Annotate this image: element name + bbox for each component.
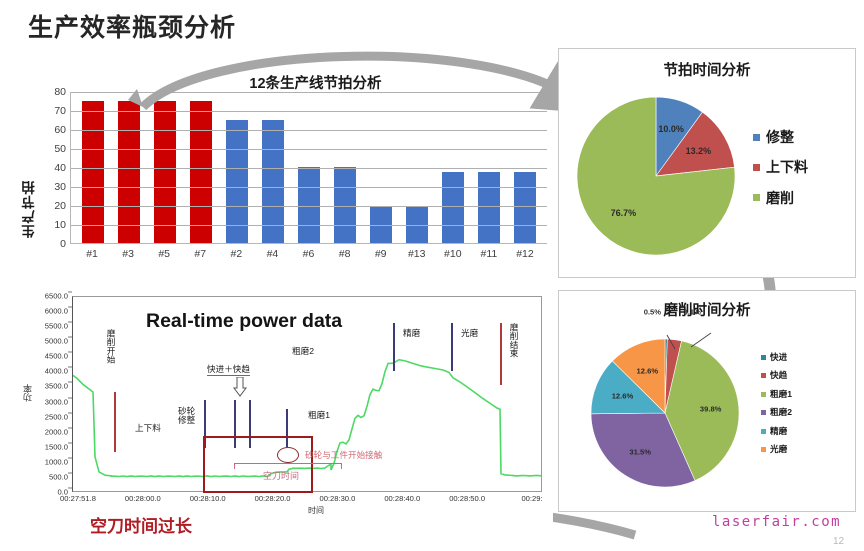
bar-chart-x-tick: #12	[507, 248, 543, 260]
legend-swatch	[761, 429, 766, 434]
pie-slice-value-label: 76.7%	[611, 208, 637, 218]
bar-chart-gridline	[71, 168, 547, 169]
pie-slice-value-label: 0.5%	[644, 307, 661, 316]
pie-legend-label: 快趋	[770, 369, 787, 381]
pie2-legend: 快进快趋粗磨1粗磨2精磨光磨	[761, 351, 792, 462]
pie-legend-item: 快进	[761, 351, 792, 363]
bar-chart-x-ticks: #1#3#5#7#2#4#6#8#9#13#10#11#12	[70, 248, 547, 260]
line-chart-x-tick: 00:28:20.0	[255, 494, 291, 503]
pie-legend-label: 光磨	[770, 443, 787, 455]
marker-grinding-start	[114, 392, 116, 452]
annotation-grinding-start: 磨削开始	[106, 329, 115, 389]
pie-legend-label: 修整	[766, 127, 794, 147]
annotation-wheel-dressing: 砂轮修整	[178, 407, 202, 426]
realtime-power-line-chart: 功率 6500.06000.05500.05000.04500.04000.03…	[18, 288, 553, 538]
line-chart-y-tick: 2000.0	[28, 427, 68, 436]
pie-slice-value-label: 3.1%	[684, 308, 701, 317]
pie-slice-value-label: 31.5%	[629, 447, 651, 456]
pie-legend-item: 磨削	[753, 188, 808, 208]
bar-chart-x-tick: #11	[471, 248, 507, 260]
annotation-spark-out: 光磨	[461, 327, 478, 339]
bar-chart-x-tick: #10	[435, 248, 471, 260]
pie-slice-value-label: 12.6%	[637, 366, 659, 375]
bar-chart-y-tick: 40	[38, 162, 66, 174]
marker-spark-out	[451, 323, 453, 371]
bar-chart-gridline	[71, 206, 547, 207]
bar-chart-y-axis-label: 生产节拍	[20, 180, 40, 238]
pie1-legend: 修整上下料磨削	[753, 127, 808, 218]
pie-legend-label: 精磨	[770, 425, 787, 437]
line-chart-title: Real-time power data	[146, 310, 342, 333]
pie2-chart: 0.5%3.1%39.8%31.5%12.6%12.6%	[591, 339, 739, 487]
pie-slice-value-label: 13.2%	[686, 146, 712, 156]
line-chart-y-tick: 5000.0	[28, 337, 68, 346]
pie1-title: 节拍时间分析	[559, 59, 855, 80]
bar	[514, 172, 536, 243]
bar-chart-y-tick: 70	[38, 105, 66, 117]
bar-chart-x-tick: #9	[363, 248, 399, 260]
bar-chart-gridline	[71, 187, 547, 188]
legend-swatch	[761, 355, 766, 360]
line-chart-x-tick: 00:27:51.8	[60, 494, 96, 503]
bar-chart-y-tick: 60	[38, 124, 66, 136]
bar-chart-y-tick: 20	[38, 200, 66, 212]
annotation-idle-too-long: 空刀时间过长	[90, 512, 192, 537]
bar-chart-x-tick: #2	[218, 248, 254, 260]
annotation-rough-grind-2: 粗磨2	[292, 345, 314, 357]
legend-swatch	[753, 134, 760, 141]
pie2-title: 磨削时间分析	[559, 299, 855, 320]
legend-swatch	[761, 373, 766, 378]
bar-chart-x-tick: #7	[182, 248, 218, 260]
line-chart-y-tick: 3000.0	[28, 397, 68, 406]
pie-legend-item: 修整	[753, 127, 808, 147]
bar-chart-gridline	[71, 130, 547, 131]
line-chart-x-tick: 00:28:50.0	[449, 494, 485, 503]
pie-legend-item: 上下料	[753, 157, 808, 177]
bar-chart-y-tick: 50	[38, 143, 66, 155]
bar-chart-y-tick: 10	[38, 219, 66, 231]
page-title: 生产效率瓶颈分析	[28, 8, 236, 44]
annotation-load-unload: 上下料	[135, 422, 161, 434]
bar-chart-gridline	[71, 225, 547, 226]
pie1-chart: 10.0%13.2%76.7%	[577, 97, 735, 255]
marker-fine-grind	[393, 323, 395, 371]
wheel-contact-ellipse	[277, 447, 299, 463]
pie-slice-value-label: 12.6%	[612, 391, 634, 400]
bar	[442, 172, 464, 243]
annotation-rapid-feed-approach: 快进＋快趋	[207, 363, 250, 376]
marker-grinding-end	[500, 323, 502, 385]
pie2-leader-lines	[639, 321, 729, 361]
page-number: 12	[833, 536, 844, 547]
takt-time-pie-panel: 节拍时间分析 10.0%13.2%76.7% 修整上下料磨削	[558, 48, 856, 278]
line-chart-y-ticks: 6500.06000.05500.05000.04500.04000.03500…	[30, 296, 70, 492]
line-chart-y-tick: 2500.0	[28, 412, 68, 421]
pie-legend-item: 粗磨1	[761, 388, 792, 400]
line-chart-y-tick: 5500.0	[28, 322, 68, 331]
pie-legend-label: 粗磨1	[770, 388, 792, 400]
pie-legend-item: 精磨	[761, 425, 792, 437]
annotation-idle-cut-time: 空刀时间	[263, 469, 299, 482]
line-chart-y-tick: 4500.0	[28, 352, 68, 361]
pie-slice-value-label: 39.8%	[700, 404, 722, 413]
line-chart-y-tick: 4000.0	[28, 367, 68, 376]
pie-legend-label: 磨削	[766, 188, 794, 208]
line-chart-y-tick: 500.0	[28, 472, 68, 481]
bar-chart-y-tick: 30	[38, 181, 66, 193]
pie-legend-item: 光磨	[761, 443, 792, 455]
line-chart-x-tick: 00:29:	[521, 494, 542, 503]
line-chart-y-tick: 3500.0	[28, 382, 68, 391]
legend-swatch	[761, 410, 766, 415]
arrow-bar-to-pie1-icon	[95, 45, 615, 125]
line-chart-x-tick: 00:28:00.0	[125, 494, 161, 503]
grinding-time-pie-panel: 磨削时间分析 0.5%3.1%39.8%31.5%12.6%12.6% 快进快趋…	[558, 290, 856, 512]
legend-swatch	[761, 392, 766, 397]
legend-swatch	[753, 164, 760, 171]
bar	[478, 172, 500, 243]
bar	[298, 167, 320, 243]
pie-legend-item: 快趋	[761, 369, 792, 381]
line-chart-y-tick: 6000.0	[28, 307, 68, 316]
bar	[334, 167, 356, 243]
annotation-fine-grind: 精磨	[403, 327, 420, 339]
watermark: laserfair.com	[712, 514, 841, 530]
bar-chart-y-ticks: 80706050403020100	[38, 92, 66, 244]
line-chart-y-tick: 6500.0	[28, 292, 68, 301]
bar-chart-x-tick: #8	[327, 248, 363, 260]
bar-chart-y-tick: 0	[38, 238, 66, 250]
annotation-rough-grind-1: 粗磨1	[308, 409, 330, 421]
bar-chart-x-tick: #5	[146, 248, 182, 260]
bar-chart-x-tick: #3	[110, 248, 146, 260]
bar-chart-x-tick: #4	[254, 248, 290, 260]
line-chart-x-ticks: 00:27:51.800:28:00.000:28:10.000:28:20.0…	[72, 494, 542, 508]
pie-legend-label: 粗磨2	[770, 406, 792, 418]
legend-swatch	[761, 447, 766, 452]
line-chart-y-tick: 1000.0	[28, 457, 68, 466]
bar-chart-y-tick: 80	[38, 86, 66, 98]
slide-root: 生产效率瓶颈分析 12条生产线节拍分析 生产节拍 807060504030201…	[0, 0, 864, 551]
line-chart-x-tick: 00:28:30.0	[319, 494, 355, 503]
bar-chart-x-tick: #6	[290, 248, 326, 260]
line-chart-x-tick: 00:28:10.0	[190, 494, 226, 503]
line-chart-x-axis-label: 时间	[308, 505, 324, 516]
legend-swatch	[753, 194, 760, 201]
annotation-grinding-end: 磨削结束	[509, 323, 518, 385]
annotation-wheel-contact: 砂轮与工件开始接触	[305, 449, 382, 461]
bar-chart-gridline	[71, 149, 547, 150]
pie-slice-value-label: 10.0%	[658, 124, 684, 134]
pie-legend-item: 粗磨2	[761, 406, 792, 418]
down-arrow-icon	[233, 377, 247, 397]
pie-legend-label: 快进	[770, 351, 787, 363]
pie-legend-label: 上下料	[766, 157, 808, 177]
bar-chart-x-tick: #1	[74, 248, 110, 260]
bar-chart-x-tick: #13	[399, 248, 435, 260]
line-chart-y-tick: 1500.0	[28, 442, 68, 451]
line-chart-x-tick: 00:28:40.0	[384, 494, 420, 503]
